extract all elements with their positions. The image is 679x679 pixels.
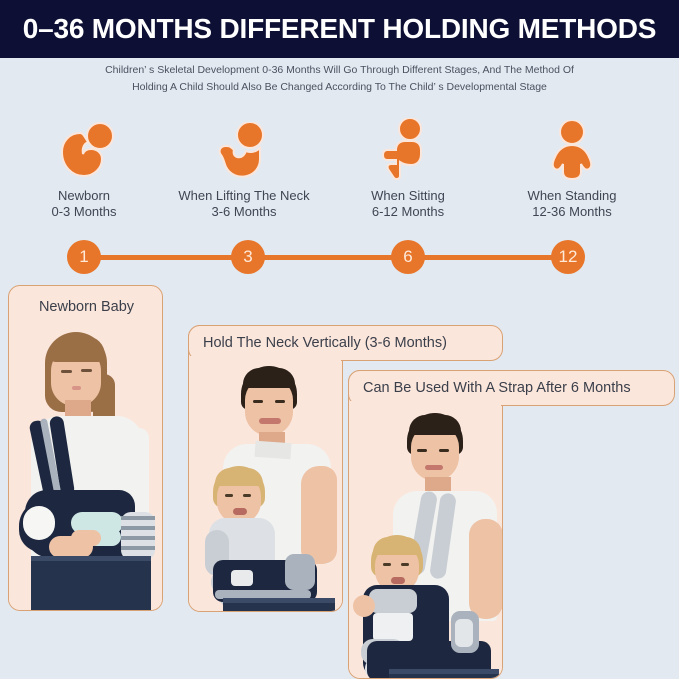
- photo-card-newborn: Newborn Baby: [8, 285, 163, 611]
- stage-label-sitting: When Sitting 6-12 Months: [337, 188, 479, 220]
- infographic-page: 0–36 MONTHS DIFFERENT HOLDING METHODS Ch…: [0, 0, 679, 679]
- card-title-strap: Can Be Used With A Strap After 6 Months: [363, 379, 631, 397]
- illustration-man-holding-toddler-upright: [189, 362, 342, 611]
- baby-lifting-neck-icon: [160, 118, 328, 180]
- stage-item-standing: When Standing 12-36 Months: [492, 118, 652, 220]
- page-title: 0–36 MONTHS DIFFERENT HOLDING METHODS: [23, 13, 657, 45]
- stage-icon-row: Newborn 0-3 Months When Lifting The Neck…: [0, 118, 679, 228]
- timeline-rail-2: [260, 255, 398, 260]
- age-timeline: 1 3 6 12: [0, 233, 679, 283]
- card-title-newborn: Newborn Baby: [9, 298, 163, 316]
- card-title-hold-neck: Hold The Neck Vertically (3-6 Months): [203, 334, 447, 352]
- stage-item-sitting: When Sitting 6-12 Months: [337, 118, 479, 220]
- stage-label-line-2: 3-6 Months: [160, 204, 328, 220]
- subtitle-line-1: Children’ s Skeletal Development 0-36 Mo…: [0, 62, 679, 79]
- baby-sitting-icon: [337, 118, 479, 180]
- timeline-node-label: 1: [79, 247, 88, 267]
- photo-card-strap: [348, 370, 503, 679]
- photo-card-hold-neck: [188, 325, 343, 612]
- stage-item-newborn: Newborn 0-3 Months: [14, 118, 154, 220]
- timeline-node-3[interactable]: 3: [231, 240, 265, 274]
- timeline-node-1[interactable]: 1: [67, 240, 101, 274]
- newborn-curled-baby-icon: [14, 118, 154, 180]
- illustration-woman-with-newborn: [9, 324, 163, 610]
- stage-item-lifting-neck: When Lifting The Neck 3-6 Months: [160, 118, 328, 220]
- stage-label-line-2: 12-36 Months: [492, 204, 652, 220]
- stage-label-lifting-neck: When Lifting The Neck 3-6 Months: [160, 188, 328, 220]
- subtitle-line-2: Holding A Child Should Also Be Changed A…: [0, 79, 679, 96]
- timeline-node-label: 3: [243, 247, 252, 267]
- timeline-node-12[interactable]: 12: [551, 240, 585, 274]
- photo-hold-neck: [189, 362, 342, 611]
- toddler-standing-icon: [492, 118, 652, 180]
- illustration-man-carrying-toddler-with-strap: [349, 407, 502, 678]
- timeline-node-6[interactable]: 6: [391, 240, 425, 274]
- timeline-node-label: 12: [559, 247, 578, 267]
- stage-label-line-1: When Lifting The Neck: [160, 188, 328, 204]
- stage-label-line-2: 6-12 Months: [337, 204, 479, 220]
- timeline-rail-3: [420, 255, 558, 260]
- stage-label-line-2: 0-3 Months: [14, 204, 154, 220]
- timeline-rail-1: [95, 255, 238, 260]
- stage-label-newborn: Newborn 0-3 Months: [14, 188, 154, 220]
- subtitle-block: Children’ s Skeletal Development 0-36 Mo…: [0, 62, 679, 96]
- stage-label-line-1: When Sitting: [337, 188, 479, 204]
- timeline-node-label: 6: [403, 247, 412, 267]
- photo-newborn-carry: [9, 324, 163, 610]
- card-title-merge-strap: [350, 401, 501, 407]
- stage-label-line-1: When Standing: [492, 188, 652, 204]
- photo-strap-carry: [349, 407, 502, 678]
- stage-label-line-1: Newborn: [14, 188, 154, 204]
- card-title-merge-hold-neck: [190, 356, 341, 362]
- stage-label-standing: When Standing 12-36 Months: [492, 188, 652, 220]
- header-banner: 0–36 MONTHS DIFFERENT HOLDING METHODS: [0, 0, 679, 58]
